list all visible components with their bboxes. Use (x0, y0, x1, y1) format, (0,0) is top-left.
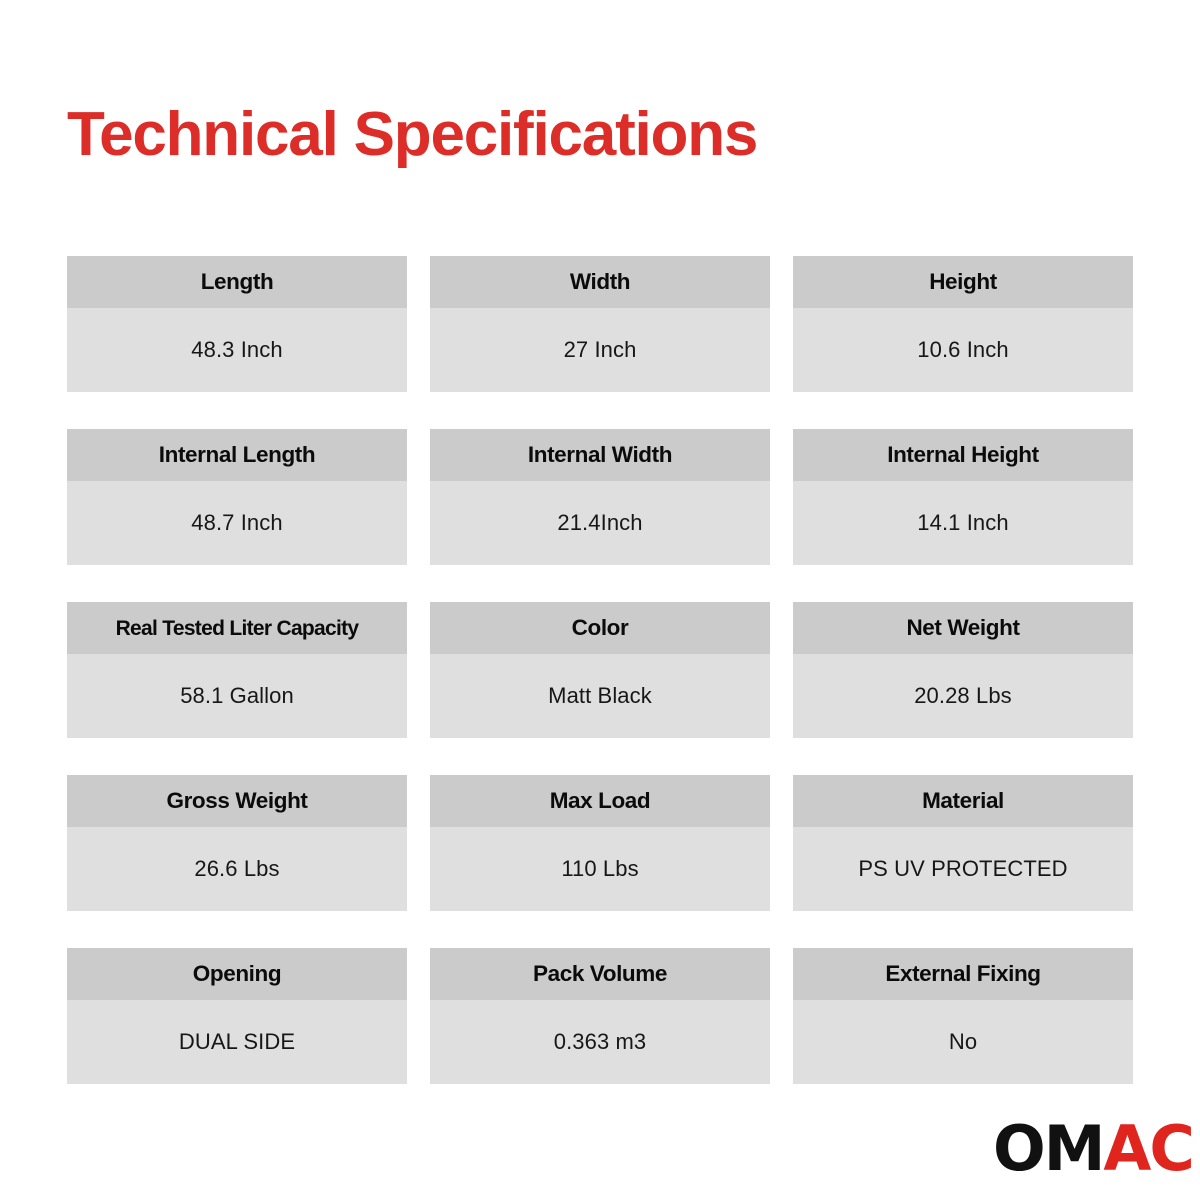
spec-card-body: Matt Black (430, 654, 770, 738)
spec-label: Internal Width (528, 444, 672, 467)
spec-sheet-page: Technical Specifications Length48.3 Inch… (0, 0, 1200, 1200)
spec-value: Matt Black (548, 685, 652, 707)
spec-card-body: 110 Lbs (430, 827, 770, 911)
spec-card-header: Internal Height (793, 429, 1133, 481)
spec-card-header: Internal Length (67, 429, 407, 481)
spec-value: PS UV PROTECTED (858, 858, 1067, 880)
spec-value: 27 Inch (564, 339, 637, 361)
spec-card: Internal Height14.1 Inch (793, 429, 1133, 565)
spec-card-body: PS UV PROTECTED (793, 827, 1133, 911)
spec-card-body: 48.7 Inch (67, 481, 407, 565)
spec-card-header: Net Weight (793, 602, 1133, 654)
spec-card: Max Load110 Lbs (430, 775, 770, 911)
spec-card: Gross Weight26.6 Lbs (67, 775, 407, 911)
spec-value: 110 Lbs (561, 858, 638, 880)
spec-card-header: Height (793, 256, 1133, 308)
spec-card-header: Internal Width (430, 429, 770, 481)
spec-card-body: 27 Inch (430, 308, 770, 392)
spec-card-header: Gross Weight (67, 775, 407, 827)
spec-card-body: 0.363 m3 (430, 1000, 770, 1084)
spec-card-header: Color (430, 602, 770, 654)
spec-label: Material (922, 790, 1004, 813)
spec-label: Color (572, 617, 629, 640)
spec-label: Internal Length (159, 444, 316, 467)
logo-text-om: OM (993, 1112, 1103, 1185)
spec-card: Height10.6 Inch (793, 256, 1133, 392)
spec-value: 20.28 Lbs (914, 685, 1012, 707)
spec-value: No (949, 1031, 977, 1053)
spec-label: Real Tested Liter Capacity (116, 618, 359, 639)
spec-card: External FixingNo (793, 948, 1133, 1084)
spec-value: 10.6 Inch (917, 339, 1008, 361)
spec-label: Internal Height (887, 444, 1039, 467)
spec-card: Width27 Inch (430, 256, 770, 392)
spec-card-header: External Fixing (793, 948, 1133, 1000)
spec-card-header: Length (67, 256, 407, 308)
spec-label: Opening (193, 963, 281, 986)
spec-card-body: DUAL SIDE (67, 1000, 407, 1084)
spec-card: MaterialPS UV PROTECTED (793, 775, 1133, 911)
specifications-grid: Length48.3 InchWidth27 InchHeight10.6 In… (67, 256, 1133, 1084)
spec-card: OpeningDUAL SIDE (67, 948, 407, 1084)
spec-card-header: Pack Volume (430, 948, 770, 1000)
spec-label: Net Weight (906, 617, 1019, 640)
spec-card-header: Opening (67, 948, 407, 1000)
spec-value: 58.1 Gallon (180, 685, 294, 707)
spec-label: Pack Volume (533, 963, 667, 986)
spec-card: Length48.3 Inch (67, 256, 407, 392)
spec-card-body: 21.4Inch (430, 481, 770, 565)
spec-card-body: 58.1 Gallon (67, 654, 407, 738)
spec-card: Pack Volume0.363 m3 (430, 948, 770, 1084)
spec-card-body: 14.1 Inch (793, 481, 1133, 565)
spec-value: 48.7 Inch (191, 512, 282, 534)
spec-value: 21.4Inch (557, 512, 642, 534)
spec-label: Length (201, 271, 274, 294)
spec-value: DUAL SIDE (179, 1031, 295, 1053)
spec-card: Internal Width21.4Inch (430, 429, 770, 565)
spec-card: ColorMatt Black (430, 602, 770, 738)
spec-card-header: Max Load (430, 775, 770, 827)
spec-value: 0.363 m3 (554, 1031, 647, 1053)
spec-card: Net Weight20.28 Lbs (793, 602, 1133, 738)
omac-logo: OMAC (993, 1118, 1193, 1180)
spec-card-body: 48.3 Inch (67, 308, 407, 392)
spec-value: 14.1 Inch (917, 512, 1008, 534)
spec-value: 48.3 Inch (191, 339, 282, 361)
spec-card-body: No (793, 1000, 1133, 1084)
spec-card-header: Real Tested Liter Capacity (67, 602, 407, 654)
spec-label: External Fixing (885, 963, 1040, 986)
spec-card: Real Tested Liter Capacity58.1 Gallon (67, 602, 407, 738)
spec-card-header: Material (793, 775, 1133, 827)
spec-label: Height (929, 271, 997, 294)
spec-label: Width (570, 271, 630, 294)
spec-label: Gross Weight (166, 790, 307, 813)
spec-card-body: 10.6 Inch (793, 308, 1133, 392)
spec-card: Internal Length48.7 Inch (67, 429, 407, 565)
page-title: Technical Specifications (67, 104, 757, 166)
spec-label: Max Load (550, 790, 651, 813)
spec-card-body: 26.6 Lbs (67, 827, 407, 911)
spec-value: 26.6 Lbs (194, 858, 279, 880)
logo-text-ac: AC (1103, 1112, 1192, 1185)
spec-card-body: 20.28 Lbs (793, 654, 1133, 738)
spec-card-header: Width (430, 256, 770, 308)
